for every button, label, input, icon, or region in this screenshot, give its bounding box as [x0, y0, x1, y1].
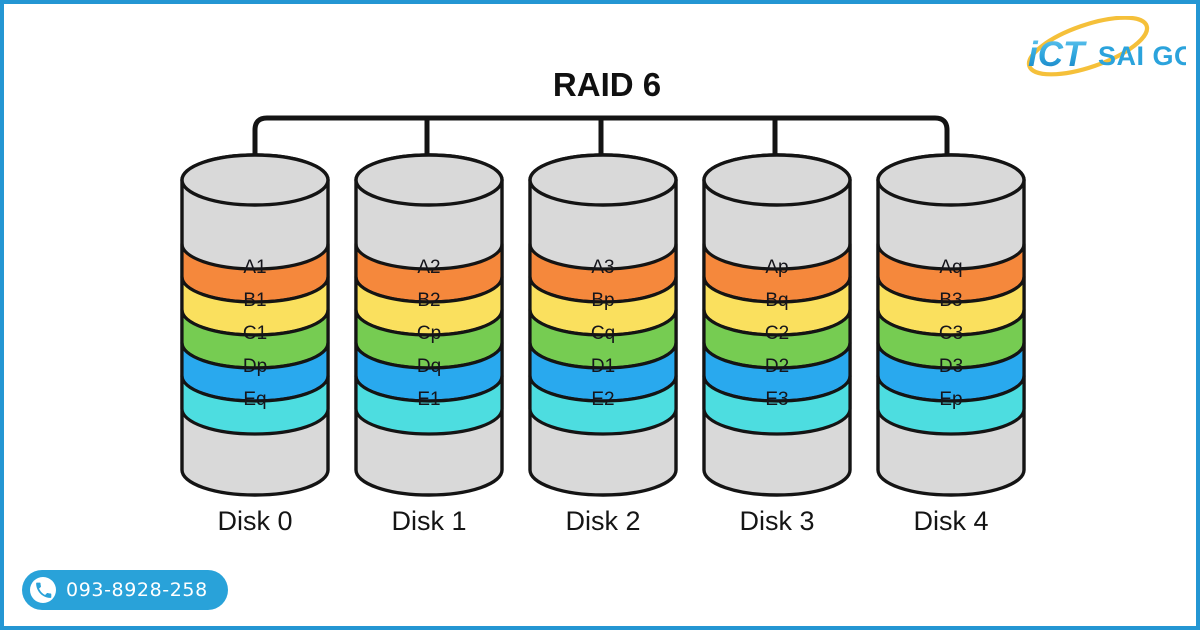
stripe-label: A2 — [417, 257, 440, 278]
disk-top-face — [182, 155, 328, 205]
stripe-label: Cp — [417, 323, 441, 344]
stripe-label: B3 — [939, 290, 962, 311]
stripe-label: D1 — [591, 356, 615, 377]
stripe-label: D3 — [939, 356, 963, 377]
stripe-label: B1 — [243, 290, 266, 311]
disk-unit[interactable]: A1B1C1DpEqDisk 0 — [182, 155, 328, 536]
stripe-label: C3 — [939, 323, 963, 344]
disk-unit[interactable]: AqB3C3D3EpDisk 4 — [878, 155, 1024, 536]
phone-icon — [30, 577, 56, 603]
stripe-label: D2 — [765, 356, 789, 377]
brand-text-secondary: SAI GON — [1098, 41, 1186, 71]
phone-number: 093-8928-258 — [66, 579, 208, 601]
stripe-label: Ap — [765, 257, 788, 278]
stripe-label: A1 — [243, 257, 266, 278]
stripe-label: B2 — [417, 290, 440, 311]
phone-badge[interactable]: 093-8928-258 — [22, 570, 228, 610]
raid6-infographic: RAID 6 A1B1C1DpEqDisk 0A2B2CpDqE1Disk 1A… — [0, 0, 1200, 630]
phone-glyph — [35, 582, 52, 599]
disk-top-face — [356, 155, 502, 205]
brand-text-primary: iCT — [1028, 35, 1087, 74]
disk-top-face — [704, 155, 850, 205]
disk-label: Disk 3 — [739, 506, 814, 536]
stripe-label: Cq — [591, 323, 615, 344]
disk-unit[interactable]: A3BpCqD1E2Disk 2 — [530, 155, 676, 536]
disk-array: A1B1C1DpEqDisk 0A2B2CpDqE1Disk 1A3BpCqD1… — [182, 155, 1024, 536]
stripe-label: Dq — [417, 356, 441, 377]
stripe-label: E3 — [765, 389, 788, 410]
stripe-label: Aq — [939, 257, 962, 278]
stripe-label: Bq — [765, 290, 788, 311]
disk-label: Disk 1 — [391, 506, 466, 536]
disk-label: Disk 2 — [565, 506, 640, 536]
stripe-label: Dp — [243, 356, 267, 377]
disk-unit[interactable]: ApBqC2D2E3Disk 3 — [704, 155, 850, 536]
stripe-label: Eq — [243, 389, 266, 410]
stripe-label: Bp — [591, 290, 614, 311]
stripe-label: A3 — [591, 257, 614, 278]
disk-top-face — [878, 155, 1024, 205]
stripe-label: C1 — [243, 323, 267, 344]
brand-logo[interactable]: iCT SAI GON — [1014, 16, 1186, 82]
brand-logo-icon: iCT SAI GON — [1014, 16, 1186, 82]
raid6-diagram: RAID 6 A1B1C1DpEqDisk 0A2B2CpDqE1Disk 1A… — [0, 0, 1200, 630]
stripe-label: C2 — [765, 323, 789, 344]
page-title: RAID 6 — [553, 66, 661, 103]
stripe-label: E2 — [591, 389, 614, 410]
stripe-label: E1 — [417, 389, 440, 410]
disk-unit[interactable]: A2B2CpDqE1Disk 1 — [356, 155, 502, 536]
disk-label: Disk 4 — [913, 506, 988, 536]
disk-top-face — [530, 155, 676, 205]
disk-label: Disk 0 — [217, 506, 292, 536]
stripe-label: Ep — [939, 389, 962, 410]
